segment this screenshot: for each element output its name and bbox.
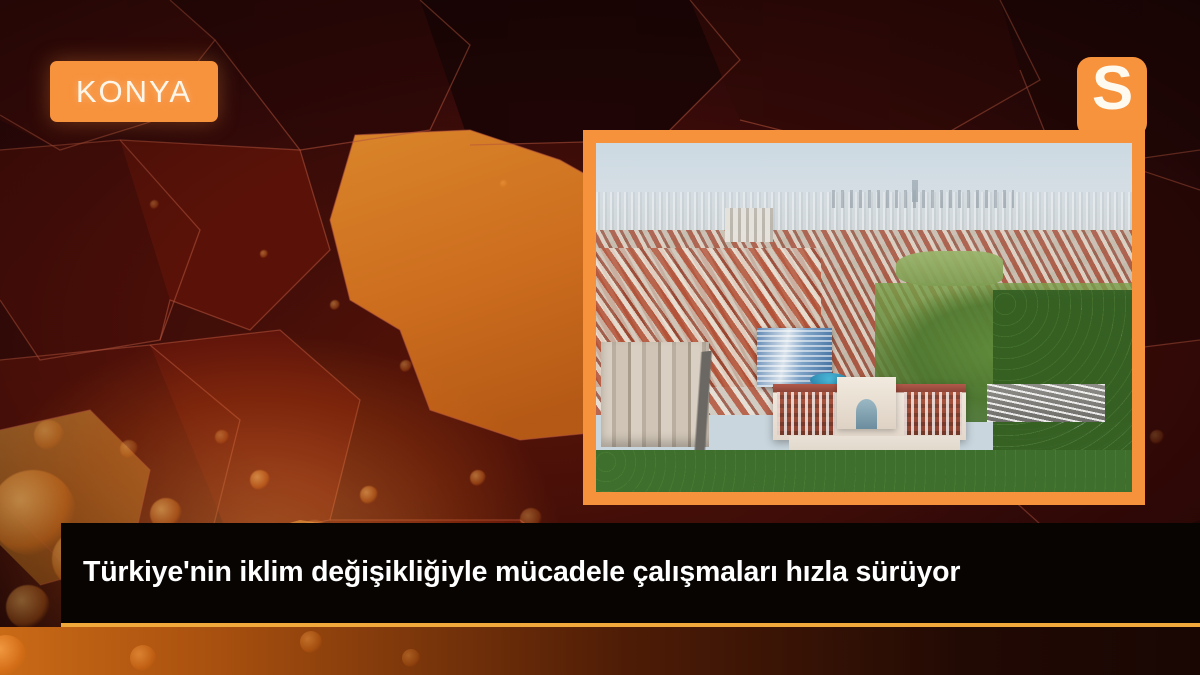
city-badge: KONYA (50, 61, 218, 122)
brand-logo-letter: S (1092, 57, 1132, 120)
photo-lawn (896, 251, 1003, 286)
photo-tall-tower (912, 180, 918, 203)
photo-frame (583, 130, 1145, 505)
headline-bar: Türkiye'nin iklim değişikliğiyle mücadel… (61, 523, 1200, 627)
photo-tree-cluster-right (993, 290, 1132, 451)
headline-text: Türkiye'nin iklim değişikliğiyle mücadel… (61, 554, 984, 592)
news-card: KONYA S (0, 0, 1200, 675)
photo-tree-line (596, 450, 1132, 492)
aerial-city-photo (596, 143, 1132, 492)
bottom-strip (0, 627, 1200, 675)
photo-skyline (832, 190, 1014, 207)
photo-midrise-towers (725, 208, 773, 243)
photo-diagonal-road (655, 348, 751, 461)
city-badge-label: KONYA (76, 76, 192, 107)
brand-logo[interactable]: S (1077, 57, 1147, 137)
photo-campus-center (837, 377, 896, 429)
photo-parking-lot (987, 384, 1105, 422)
